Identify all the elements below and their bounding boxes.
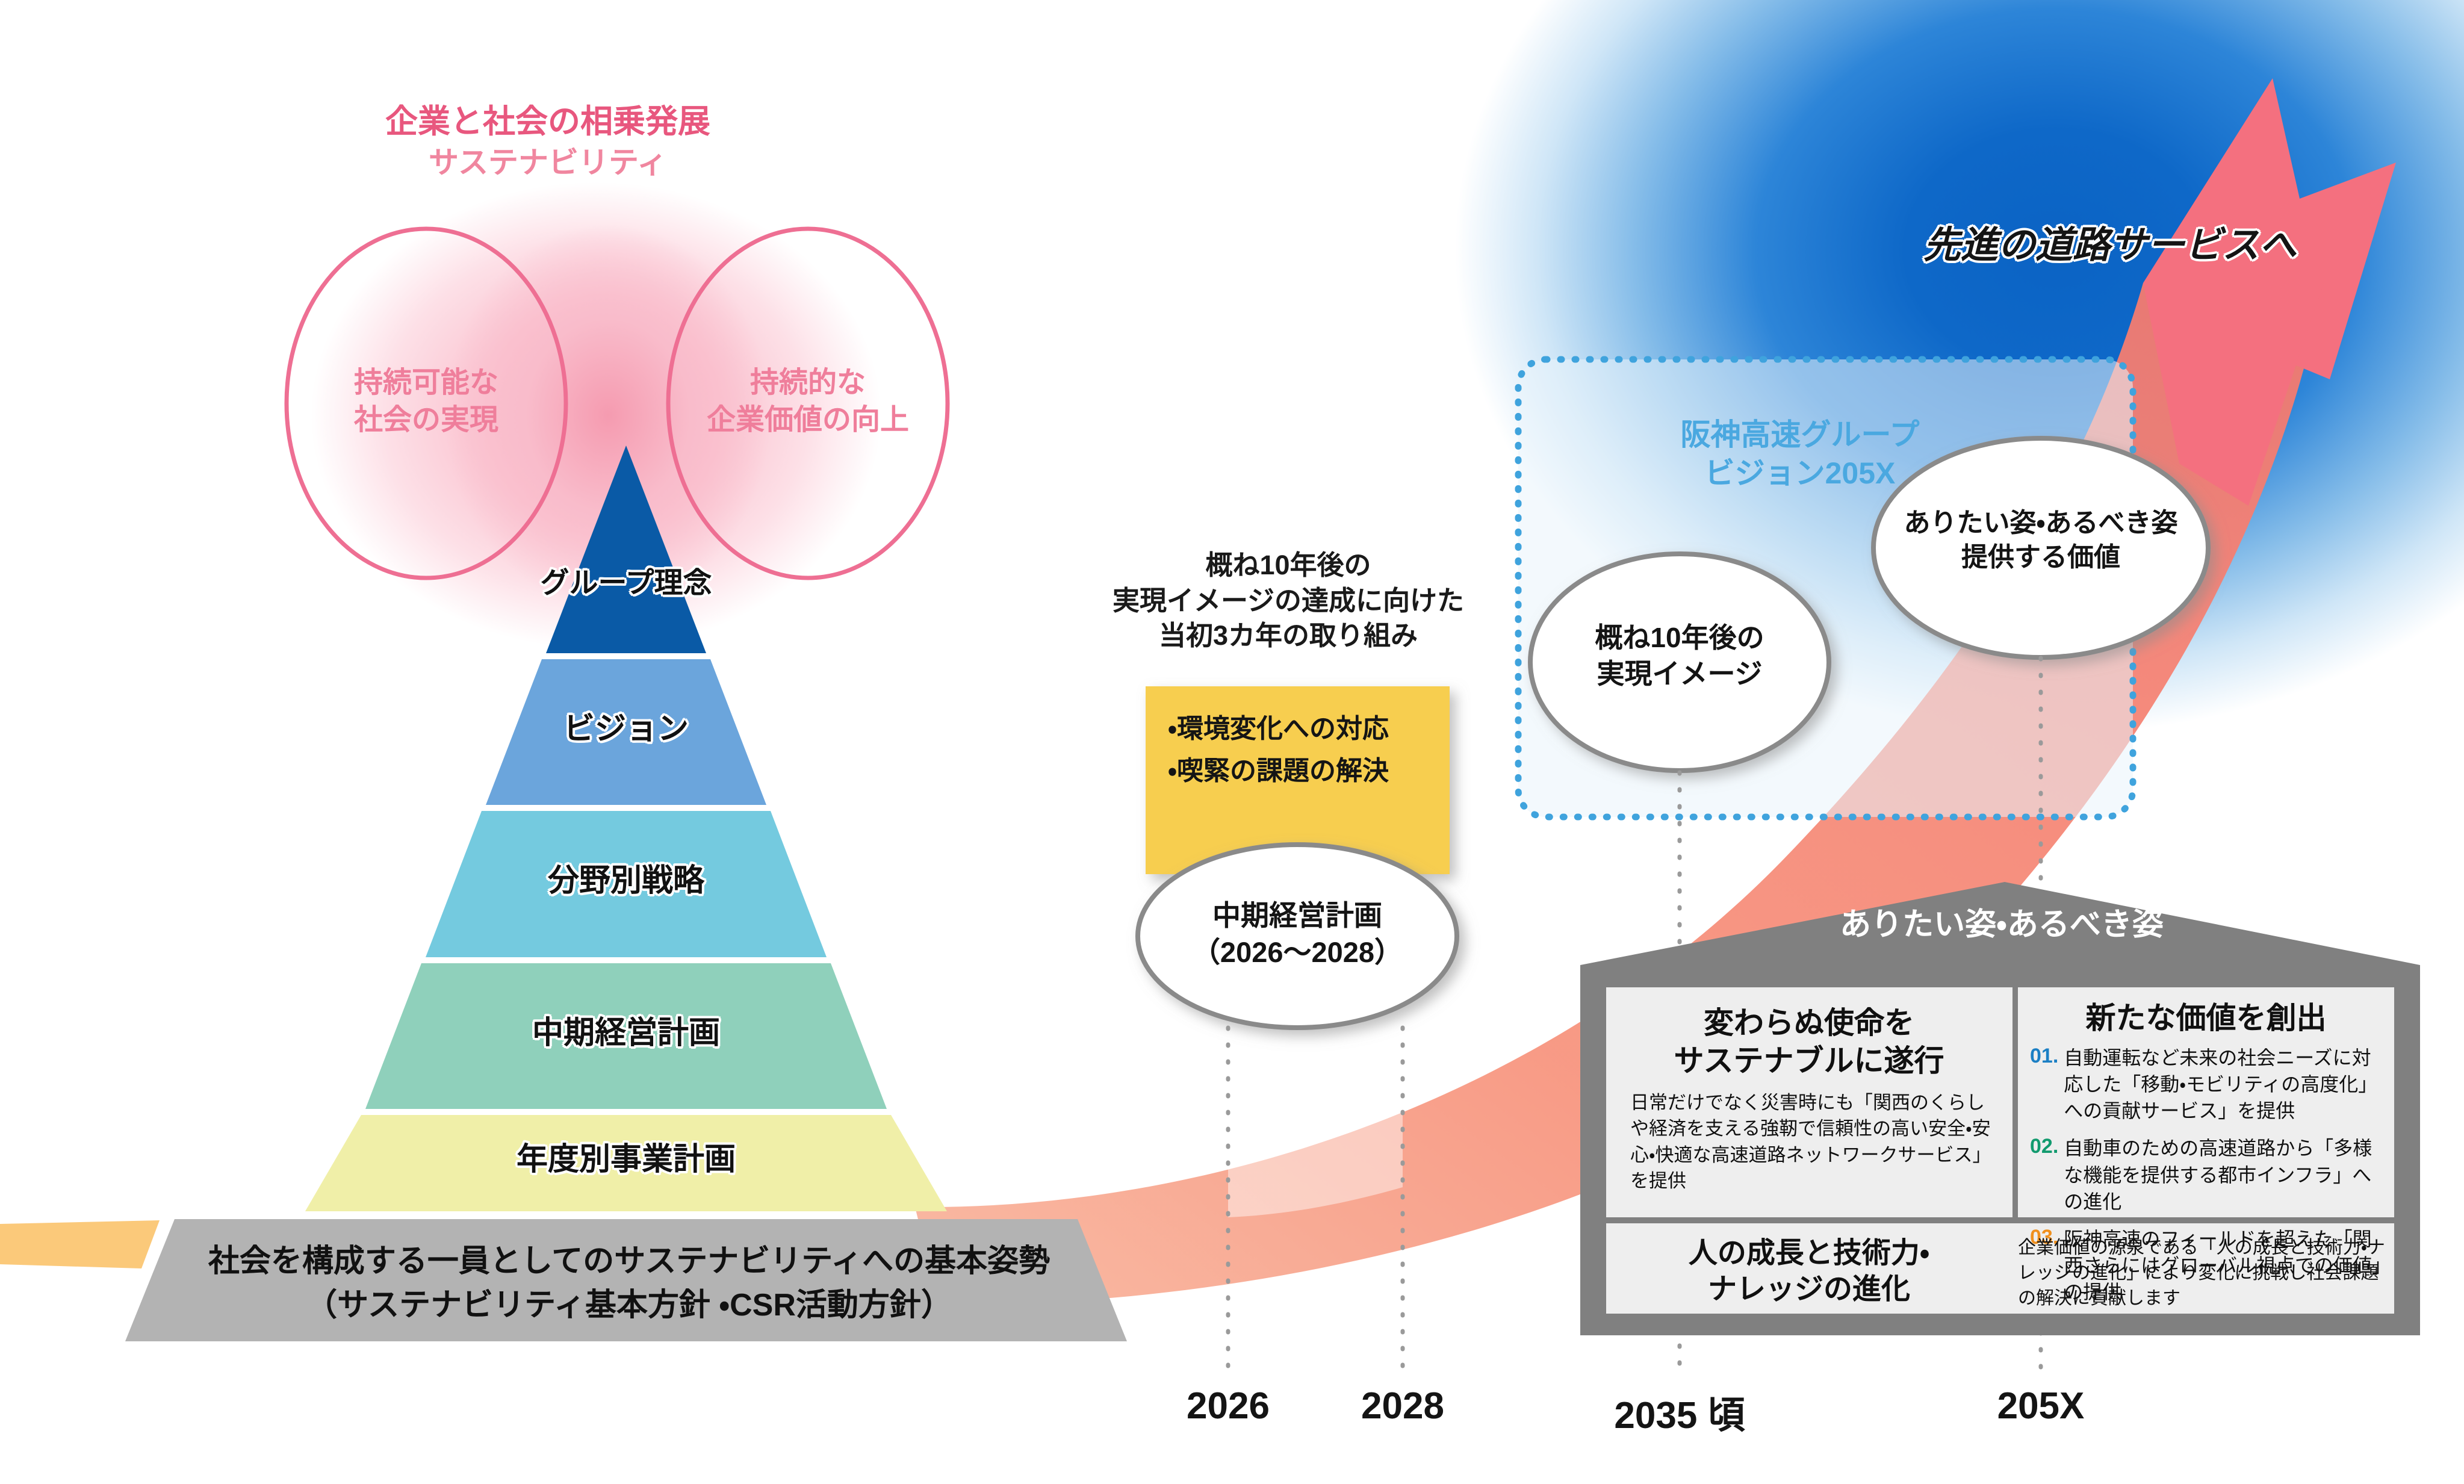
aspiration-bottom-heading: 人の成長と技術力・ ナレッジの進化 bbox=[1619, 1235, 1999, 1308]
aspiration-item-02-number: 02. bbox=[2030, 1135, 2058, 1214]
aspiration-left-body: 日常だけでなく災害時にも「関西のくらしや経済を支える強靭で信頼性の高い安全・安心… bbox=[1630, 1090, 1994, 1194]
year-label-2026: 2026 bbox=[1144, 1385, 1312, 1427]
aspiration-item-01-text: 自動運転など未来の社会ニーズに対応した「移動・モビリティの高度化」への貢献サービ… bbox=[2064, 1045, 2385, 1124]
aspiration-bottom-body: 企業価値の源泉である「人の成長と技術力・ナレッジの進化」により変化に挑戦し社会課… bbox=[2018, 1235, 2385, 1311]
year-label-2028: 2028 bbox=[1318, 1385, 1487, 1427]
aspiration-box-header: ありたい姿・あるべき姿 bbox=[1625, 906, 2378, 944]
aspiration-item-02-text: 自動車のための高速道路から「多様な機能を提供する都市インフラ」への進化 bbox=[2064, 1135, 2385, 1214]
aspiration-right-heading: 新たな価値を創出 bbox=[2030, 999, 2382, 1037]
diagram-canvas: 企業と社会の相乗発展 サステナビリティ 持続可能な 社会の実現 持続的な 企業価… bbox=[0, 0, 2464, 1484]
aspiration-left-heading: 変わらぬ使命を サステナブルに遂行 bbox=[1619, 1004, 1999, 1079]
aspiration-item-01: 01. 自動運転など未来の社会ニーズに対応した「移動・モビリティの高度化」への貢… bbox=[2030, 1045, 2385, 1124]
aspiration-item-01-number: 01. bbox=[2030, 1045, 2058, 1124]
aspiration-item-02: 02. 自動車のための高速道路から「多様な機能を提供する都市インフラ」への進化 bbox=[2030, 1135, 2385, 1214]
year-label-2035: 2035 頃 bbox=[1574, 1385, 1785, 1439]
year-label-205x: 205X bbox=[1957, 1385, 2125, 1427]
